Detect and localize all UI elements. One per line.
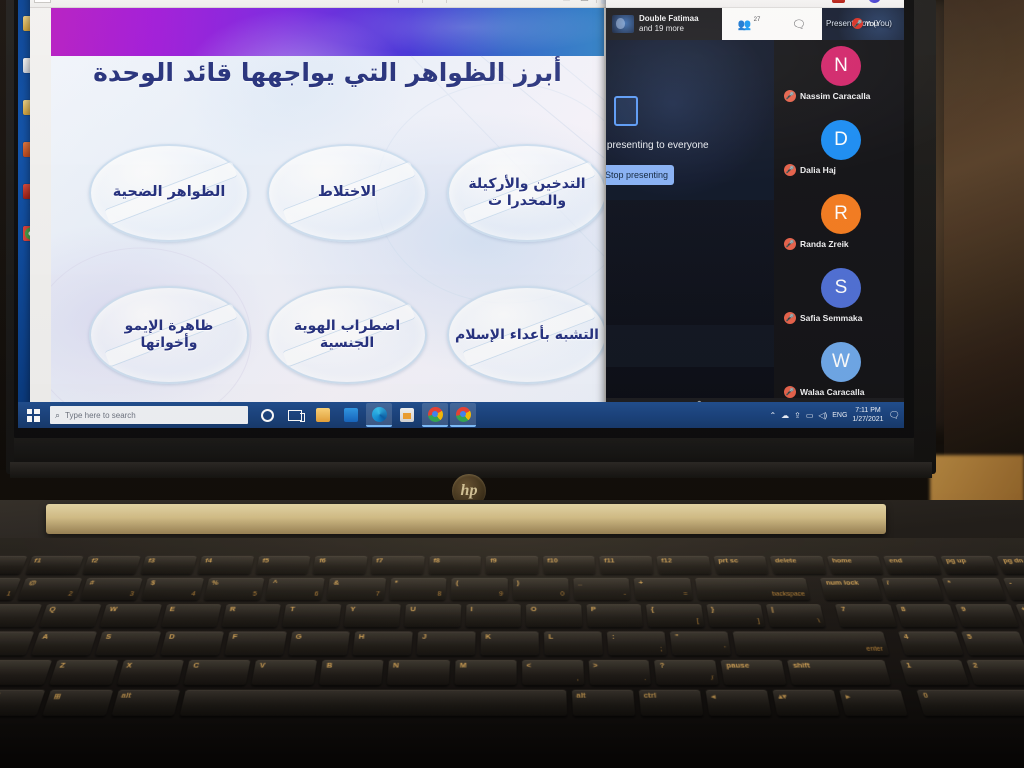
key[interactable]: f1 (25, 556, 83, 574)
key-label: B (326, 663, 333, 670)
avatar: S (821, 268, 861, 308)
key-sublabel: 3 (129, 591, 135, 597)
key-label: L (549, 634, 554, 640)
key-label: pause (726, 663, 750, 670)
key[interactable]: f4 (198, 556, 254, 574)
slide-item-oval: الاختلاط (267, 144, 427, 242)
chevron-up-icon[interactable]: ⌃ (769, 411, 776, 420)
key-sublabel: 4 (191, 591, 196, 597)
key-label: 5 (966, 634, 973, 640)
key[interactable]: |\ (766, 604, 826, 627)
you-label: You (865, 19, 878, 28)
key-label: 7 (840, 607, 846, 613)
key-label: f10 (547, 558, 558, 564)
key-arrow-left[interactable]: ◂ (705, 690, 771, 716)
key-label: delete (775, 558, 797, 564)
key-label: num lock (825, 580, 859, 586)
pdf-viewer-window[interactable]: 12 of 39 ⌕ − ＋ ↻ ⛶ 🗋 AA ⊽ ▾ ⊽ ▾ ⌫ ⊖ ▤ (30, 0, 620, 426)
mic-muted-icon: 🎤 (784, 312, 796, 324)
key-label: J (422, 634, 427, 640)
language-indicator[interactable]: ENG (832, 412, 847, 419)
key-label: { (651, 607, 655, 613)
presentation-slide: أبرز الظواهر التي يواجهها قائد الوحدة ال… (51, 8, 604, 410)
key[interactable]: 8 (895, 604, 957, 627)
key-label: | (771, 607, 774, 613)
key[interactable]: f6 (313, 556, 367, 574)
key[interactable]: 4 (898, 631, 964, 655)
key-label: E (169, 607, 176, 613)
rotate-icon[interactable]: ↻ (361, 0, 376, 4)
stop-presenting-button[interactable]: Stop presenting (606, 165, 674, 185)
taskbar-app-file-explorer[interactable] (310, 403, 336, 427)
key-label: f11 (604, 558, 615, 564)
key[interactable]: f9 (486, 556, 538, 574)
key-arrow-right[interactable]: ▸ (840, 690, 909, 716)
toolbar-divider (422, 0, 423, 3)
key-label: f7 (376, 558, 383, 564)
key-sublabel: \ (817, 618, 820, 624)
slide-item-oval: التدخين والأركيلة والمخدرا ت (447, 144, 604, 242)
key-label: D (168, 634, 175, 640)
battery-icon[interactable]: ▭ (806, 411, 814, 420)
key[interactable]: P (586, 604, 643, 627)
cloud-icon[interactable]: ☁ (781, 411, 789, 420)
windows-logo-icon: ⊞ (52, 693, 61, 701)
key[interactable]: esc (0, 556, 27, 574)
key[interactable]: F (224, 631, 287, 655)
page-number-input[interactable]: 12 (34, 0, 51, 3)
key-sublabel: - (623, 591, 626, 597)
key[interactable]: end (884, 556, 942, 574)
key[interactable]: M (454, 660, 516, 685)
key[interactable]: f3 (140, 556, 197, 574)
participant-name: Randa Zreik (800, 239, 849, 249)
key[interactable]: {[ (646, 604, 704, 627)
key[interactable]: %5 (204, 578, 265, 600)
pdf-toolbar[interactable]: 12 of 39 ⌕ − ＋ ↻ ⛶ 🗋 AA ⊽ ▾ ⊽ ▾ ⌫ ⊖ ▤ (30, 0, 620, 8)
key[interactable]: / (881, 578, 944, 600)
taskbar-app-strip[interactable] (254, 403, 476, 427)
chevron-down-icon[interactable]: ▾ (505, 0, 520, 4)
zoom-out-icon[interactable]: − (325, 0, 340, 4)
keyboard-row-2[interactable]: tab Q W E R T Y U I O P {[ }] |\ 7 8 9 + (0, 604, 1024, 627)
key[interactable]: &7 (327, 578, 386, 600)
key-label: @ (28, 580, 37, 586)
key[interactable]: Z (49, 660, 118, 685)
key[interactable]: N (387, 660, 450, 685)
key-label: alt (576, 693, 586, 700)
photo-scene: ... ... ... ... ... (0, 0, 1024, 768)
key[interactable]: f12 (656, 556, 710, 574)
chevron-down-icon[interactable]: ▾ (469, 0, 484, 4)
slide-item-text: ظاهرة الإيمو وأخواتها (91, 318, 247, 351)
key[interactable]: D (160, 631, 224, 655)
chrome-toolbar[interactable]: g/jwv ▰ ☆ A ✦ F ⋮ (606, 0, 904, 8)
camera-icon[interactable]: ▰ (796, 0, 809, 3)
presenter-thumbnail (612, 15, 634, 33)
highlight-icon[interactable]: ⊽ (451, 0, 466, 4)
key-label: " (675, 634, 679, 640)
taskbar-app-chrome-2[interactable] (450, 403, 476, 427)
windows-taskbar[interactable]: ⌕ Type here to search ⌃ ☁ ⇪ ▭ ◁) ENG (18, 402, 904, 428)
clock-time: 7:11 PM (852, 406, 883, 415)
key-sublabel: 9 (499, 591, 503, 597)
participant-name-row: 🎤 Walaa Caracalla (784, 386, 864, 398)
search-icon: ⌕ (55, 410, 60, 421)
key[interactable]: $4 (142, 578, 204, 600)
mic-muted-icon: 🎤 (784, 90, 796, 102)
key[interactable]: 5 (961, 631, 1024, 655)
key-label: H (358, 634, 364, 640)
key[interactable]: f8 (428, 556, 481, 574)
key-label: N (393, 663, 399, 670)
mic-muted-icon: 🎤 (784, 164, 796, 176)
slide-item-text: اضطراب الهوية الجنسية (269, 318, 425, 351)
key-label: f4 (205, 558, 213, 564)
key-label: ^ (272, 580, 277, 586)
key[interactable]: prt sc (713, 556, 768, 574)
key[interactable]: B (319, 660, 383, 685)
google-meet-window[interactable]: g/jwv ▰ ☆ A ✦ F ⋮ Double Fatimaa and 19 … (606, 0, 904, 426)
key-label: Q (48, 607, 56, 613)
key-label: : (612, 634, 615, 640)
participant-name: Nassim Caracalla (800, 91, 870, 101)
key-sublabel: [ (696, 618, 699, 624)
taskbar-app-edge[interactable] (366, 403, 392, 427)
taskbar-app-cortana[interactable] (254, 403, 280, 427)
avatar: W (821, 342, 861, 382)
presenter-sub-label: and 19 more (639, 24, 699, 34)
usb-icon[interactable]: ⇪ (794, 411, 801, 420)
key[interactable]: += (634, 578, 693, 600)
key-windows[interactable]: ⊞ (43, 690, 113, 716)
zoom-in-icon[interactable]: ＋ (343, 0, 358, 4)
key[interactable]: 1 (900, 660, 969, 685)
taskbar-app-store[interactable] (394, 403, 420, 427)
slide-title: أبرز الظواهر التي يواجهها قائد الوحدة (51, 58, 604, 87)
key[interactable]: *8 (389, 578, 447, 600)
key-sublabel: 6 (314, 591, 319, 597)
more-menu-icon[interactable]: ⋮ (886, 0, 899, 3)
key[interactable]: Q (39, 604, 102, 627)
key-space[interactable] (179, 690, 566, 716)
task-view-icon (288, 410, 302, 421)
participant-tile[interactable]: S 🎤 Safia Semmaka (774, 266, 904, 340)
read-aloud-icon[interactable]: ⊖ (541, 0, 556, 4)
key-shift-left[interactable]: shift (0, 660, 52, 685)
presentation-tile[interactable]: Presentation (You) 🎤 You (822, 8, 904, 40)
meet-empty-pane (606, 200, 774, 412)
key[interactable]: U (405, 604, 461, 627)
key[interactable]: C (184, 660, 251, 685)
key-alt-right[interactable]: alt (571, 690, 635, 716)
participant-name-row: 🎤 Randa Zreik (784, 238, 849, 250)
key[interactable]: E (161, 604, 222, 627)
key-label: f5 (262, 558, 270, 564)
windows-logo-icon (27, 409, 40, 422)
key-label: f9 (490, 558, 497, 564)
key-label: prt sc (718, 558, 739, 564)
mail-icon (344, 408, 358, 422)
key-shift-right[interactable]: shift (787, 660, 891, 685)
key-label: 1 (906, 663, 912, 670)
key-label: f8 (433, 558, 440, 564)
key-label: * (947, 580, 952, 586)
toolbar-divider (596, 0, 597, 3)
key[interactable]: V (252, 660, 317, 685)
key-sublabel: . (644, 675, 647, 682)
key-label: C (192, 663, 199, 670)
keyboard-row-4[interactable]: shift Z X C V B N M <, >. ?/ pause shift… (0, 660, 1024, 685)
key[interactable]: >. (588, 660, 651, 685)
key-caps-lock[interactable]: caps lock (0, 631, 35, 655)
search-placeholder: Type here to search (65, 411, 136, 420)
key-label: ) (517, 580, 520, 586)
presenter-name: Double Fatimaa (639, 14, 699, 24)
key[interactable]: _- (573, 578, 630, 600)
cortana-icon (261, 409, 274, 422)
key[interactable]: ?/ (655, 660, 719, 685)
print-icon[interactable]: 🖨 (577, 0, 592, 4)
key-sublabel: 2 (67, 591, 73, 597)
notification-icon[interactable]: 🗨 (889, 410, 900, 421)
mic-muted-icon: 🎤 (784, 386, 796, 398)
key-label: } (711, 607, 715, 613)
keyboard-deck[interactable]: esc f1 f2 f3 f4 f5 f6 f7 f8 f9 f10 f11 f… (0, 538, 1024, 768)
key-label: 2 (972, 663, 979, 670)
key-label: F (232, 634, 238, 640)
key-label: 4 (903, 634, 909, 640)
you-badge: 🎤 You (852, 18, 878, 29)
key[interactable]: I (466, 604, 521, 627)
key-ctrl-left[interactable]: ctrl (0, 690, 46, 716)
key[interactable]: W (100, 604, 162, 627)
key-sublabel: 8 (437, 591, 441, 597)
keyboard[interactable]: esc f1 f2 f3 f4 f5 f6 f7 f8 f9 f10 f11 f… (0, 556, 1024, 752)
key[interactable]: f5 (256, 556, 311, 574)
participant-name-row: 🎤 Dalia Haj (784, 164, 836, 176)
toolbar-divider (398, 0, 399, 3)
erase-icon[interactable]: ⌫ (523, 0, 538, 4)
laptop-screen: ... ... ... ... ... (18, 0, 904, 428)
key[interactable]: 7 (835, 604, 896, 627)
key[interactable]: )0 (513, 578, 569, 600)
key[interactable]: O (526, 604, 582, 627)
key[interactable]: "' (670, 631, 731, 655)
slide-item-grid: الظواهر الضحية الاختلاط التدخين والأركيل… (67, 108, 604, 398)
key[interactable]: * (942, 578, 1006, 600)
people-count-button[interactable]: 👥 27 (738, 18, 760, 31)
key-label: enter (866, 646, 884, 652)
key[interactable]: (9 (451, 578, 508, 600)
key-label: f12 (661, 558, 672, 564)
toolbar-divider (446, 0, 447, 3)
pdf-extension-icon[interactable]: A (832, 0, 845, 3)
slide-item-text: التشبه بأعداء الإسلام (451, 327, 603, 344)
keyboard-row-5[interactable]: fn ctrl ⊞ alt alt ctrl ◂ ▴▾ ▸ 0ins .del (0, 690, 1024, 716)
key[interactable]: pg up (940, 556, 998, 574)
chat-icon: 🗨 (792, 18, 806, 31)
key[interactable]: #3 (80, 578, 143, 600)
key-label: + (1021, 607, 1024, 613)
key[interactable]: X (117, 660, 185, 685)
key[interactable]: <, (522, 660, 584, 685)
participant-name: Dalia Haj (800, 165, 836, 175)
keyboard-row-1[interactable]: !1 @2 #3 $4 %5 ^6 &7 *8 (9 )0 _- += back… (0, 578, 1024, 600)
taskbar-app-task-view[interactable] (282, 403, 308, 427)
bookmark-star-icon[interactable]: ☆ (814, 0, 827, 3)
key-num-lock[interactable]: num lock (821, 578, 883, 600)
key-label: $ (150, 580, 156, 586)
chrome-icon (456, 407, 471, 422)
key[interactable]: home (827, 556, 884, 574)
key[interactable]: f10 (543, 556, 596, 574)
profile-avatar-icon[interactable]: F (868, 0, 881, 3)
key-label: O (531, 607, 537, 613)
key-arrow-updown[interactable]: ▴▾ (773, 690, 840, 716)
key[interactable]: ^6 (265, 578, 325, 600)
clock-area[interactable]: 7:11 PM 1/27/2021 (852, 406, 883, 424)
key-tab[interactable]: tab (0, 604, 42, 627)
key[interactable]: J (416, 631, 475, 655)
key-label: ctrl (643, 693, 656, 700)
key-enter[interactable]: enter (733, 631, 889, 655)
key-ctrl-right[interactable]: ctrl (638, 690, 703, 716)
key-pause[interactable]: pause (721, 660, 787, 685)
add-text-icon[interactable]: 🗋 (403, 0, 418, 4)
key[interactable]: 2 (967, 660, 1024, 685)
start-button[interactable] (18, 402, 48, 428)
share-notice-text: You are presenting to everyone (606, 140, 774, 151)
clock-date: 1/27/2021 (852, 415, 883, 424)
key[interactable]: :; (607, 631, 667, 655)
key[interactable]: L (544, 631, 603, 655)
avatar: D (821, 120, 861, 160)
key-label: K (485, 634, 491, 640)
participants-column[interactable]: N 🎤 Nassim Caracalla D 🎤 Dalia Haj (774, 40, 904, 412)
key[interactable]: f11 (600, 556, 654, 574)
key-sublabel: 7 (376, 591, 381, 597)
key-label: U (410, 607, 416, 613)
key-backspace[interactable]: backspace (695, 578, 811, 600)
key-sublabel: = (683, 591, 688, 597)
arrow-right-icon: ▸ (845, 693, 851, 701)
participant-tile[interactable]: R 🎤 Randa Zreik (774, 192, 904, 266)
system-tray[interactable]: ⌃ ☁ ⇪ ▭ ◁) ENG 7:11 PM 1/27/2021 🗨 (769, 406, 904, 424)
highlight-color-icon[interactable]: ⊽ (487, 0, 502, 4)
key-label: pg up (945, 558, 967, 564)
search-input[interactable]: ⌕ Type here to search (50, 406, 248, 424)
slide-item-text: التدخين والأركيلة والمخدرا ت (449, 176, 604, 209)
taskbar-app-mail[interactable] (338, 403, 364, 427)
slide-item-oval: التشبه بأعداء الإسلام (447, 286, 604, 384)
key-sublabel: 1 (6, 591, 12, 597)
key-label: alt (120, 693, 131, 700)
fit-page-icon[interactable]: ⛶ (379, 0, 394, 4)
key-label: X (126, 663, 133, 670)
participant-name: Walaa Caracalla (800, 387, 864, 397)
key[interactable]: K (481, 631, 540, 655)
search-icon[interactable]: ⌕ (71, 0, 86, 4)
key[interactable]: R (222, 604, 282, 627)
chat-button[interactable]: 🗨 (792, 18, 806, 31)
key[interactable]: S (96, 631, 161, 655)
key-sublabel: / (711, 675, 714, 682)
key[interactable]: 9 (955, 604, 1018, 627)
background-wall (944, 0, 1024, 470)
key[interactable]: G (288, 631, 349, 655)
key[interactable]: H (352, 631, 412, 655)
participant-name-row: 🎤 Nassim Caracalla (784, 90, 870, 102)
key[interactable]: delete (770, 556, 826, 574)
extensions-icon[interactable]: ✦ (850, 0, 863, 3)
avatar: N (821, 46, 861, 86)
keyboard-row-3[interactable]: caps lock A S D F G H J K L :; "' enter … (0, 631, 1024, 655)
edge-icon (372, 407, 387, 422)
key-sublabel: , (577, 675, 579, 682)
participant-name-row: 🎤 Safia Semmaka (784, 312, 862, 324)
key-label: end (888, 558, 903, 564)
key[interactable]: T (283, 604, 342, 627)
presenter-tile[interactable]: Double Fatimaa and 19 more (606, 8, 722, 40)
key-label: A (41, 634, 49, 640)
key-label: f1 (33, 558, 42, 564)
meet-counters: 👥 27 🗨 (722, 8, 822, 40)
participant-name: Safia Semmaka (800, 313, 862, 323)
key[interactable]: pg dn (997, 556, 1024, 574)
key-sublabel: 0 (560, 591, 564, 597)
key[interactable]: f7 (371, 556, 425, 574)
key-label: Z (59, 663, 66, 670)
key-label: 8 (900, 607, 906, 613)
key-label: G (295, 634, 302, 640)
numpad-separator (888, 631, 899, 655)
key[interactable]: 0ins (917, 690, 1024, 716)
slide-header-band (51, 8, 604, 56)
taskbar-app-chrome[interactable] (422, 403, 448, 427)
key-label: & (333, 580, 339, 586)
avatar: R (821, 194, 861, 234)
arrow-updown-icon: ▴▾ (778, 693, 788, 701)
key[interactable]: - (1003, 578, 1024, 600)
key[interactable]: A (32, 631, 98, 655)
key-label: ( (456, 580, 459, 586)
speaker-icon[interactable]: ◁) (818, 411, 827, 420)
share-notice-panel: You are presenting to everyone Stop pres… (606, 40, 774, 200)
key-label: * (395, 580, 398, 586)
keyboard-fn-row[interactable]: esc f1 f2 f3 f4 f5 f6 f7 f8 f9 f10 f11 f… (0, 556, 1024, 574)
text-style-icon[interactable]: AA (427, 0, 442, 4)
numpad-separator (890, 660, 902, 685)
key[interactable]: f2 (83, 556, 141, 574)
slide-item-oval: ظاهرة الإيمو وأخواتها (89, 286, 249, 384)
save-icon[interactable]: ▤ (559, 0, 574, 4)
hinge-light-strip (46, 504, 886, 534)
key-sublabel: 5 (252, 591, 257, 597)
participant-tile[interactable]: N 🎤 Nassim Caracalla (774, 44, 904, 118)
key-sublabel: ' (724, 646, 726, 652)
key-label: f2 (90, 558, 98, 564)
key-label: < (526, 663, 531, 670)
participant-tile[interactable]: D 🎤 Dalia Haj (774, 118, 904, 192)
key[interactable]: Y (344, 604, 401, 627)
key-label: # (89, 580, 95, 586)
key[interactable]: }] (706, 604, 765, 627)
presenter-info: Double Fatimaa and 19 more (639, 14, 699, 34)
key-label: pg dn (1002, 558, 1024, 564)
key[interactable]: @2 (18, 578, 82, 600)
key-alt-left[interactable]: alt (111, 690, 180, 716)
